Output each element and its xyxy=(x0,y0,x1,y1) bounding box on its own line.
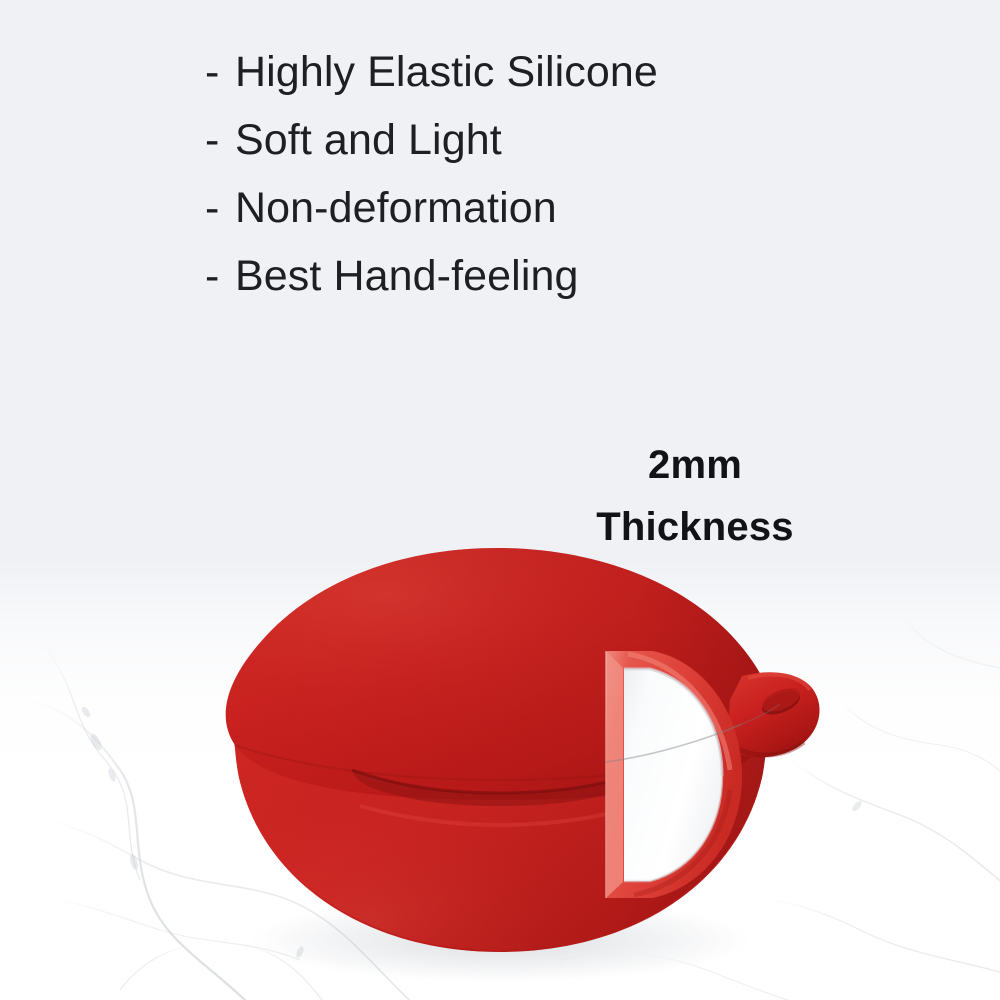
lanyard-loop xyxy=(728,672,820,757)
product-illustration xyxy=(0,0,1000,1000)
product-feature-image: - Highly Elastic Silicone - Soft and Lig… xyxy=(0,0,1000,1000)
